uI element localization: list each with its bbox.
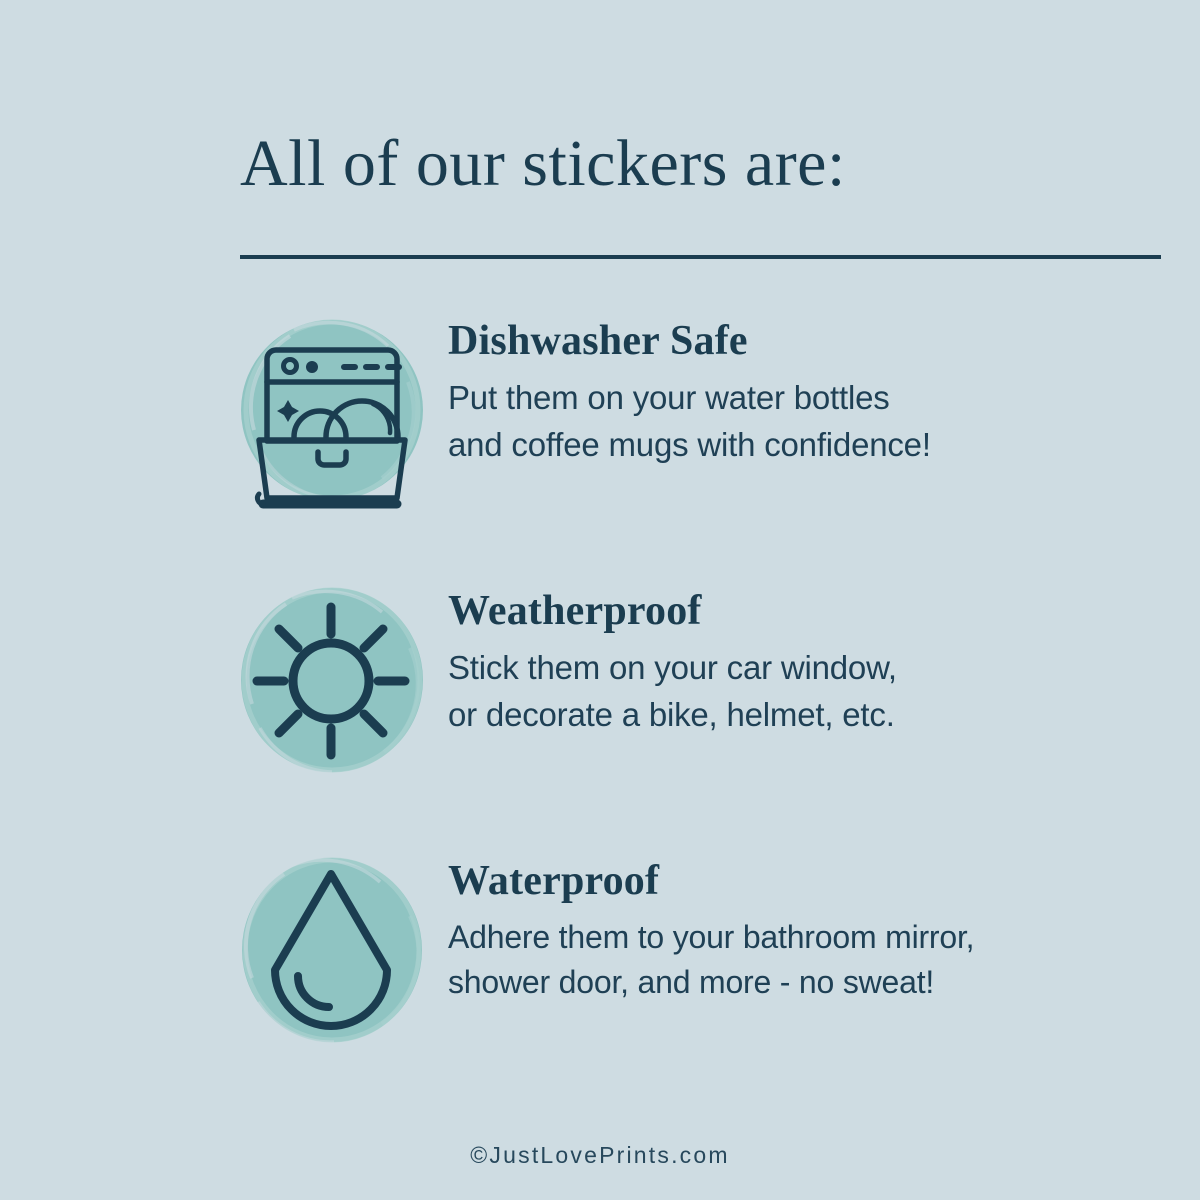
feature-text-dishwasher-safe: Dishwasher Safe Put them on your water b…: [428, 312, 931, 469]
promo-graphic: All of our stickers are:: [0, 0, 1200, 1200]
feature-body: Adhere them to your bathroom mirror, sho…: [448, 915, 974, 1006]
feature-row-waterproof: Waterproof Adhere them to your bathroom …: [232, 852, 1172, 1052]
title-divider: [240, 255, 1161, 259]
feature-heading: Waterproof: [448, 858, 974, 905]
feature-body-line: Adhere them to your bathroom mirror,: [448, 915, 974, 960]
water-drop-icon: [232, 852, 428, 1052]
feature-text-weatherproof: Weatherproof Stick them on your car wind…: [428, 582, 897, 739]
sun-icon: [232, 582, 428, 782]
sun-icon-badge: [232, 582, 428, 782]
feature-heading: Weatherproof: [448, 588, 897, 635]
dishwasher-icon: [232, 312, 428, 512]
feature-text-waterproof: Waterproof Adhere them to your bathroom …: [428, 852, 974, 1006]
feature-row-weatherproof: Weatherproof Stick them on your car wind…: [232, 582, 1172, 782]
feature-heading: Dishwasher Safe: [448, 318, 931, 365]
feature-body-line: and coffee mugs with confidence!: [448, 422, 931, 469]
feature-body-line: or decorate a bike, helmet, etc.: [448, 692, 897, 739]
feature-body: Put them on your water bottles and coffe…: [448, 375, 931, 469]
dishwasher-icon-badge: [232, 312, 428, 512]
feature-body-line: shower door, and more - no sweat!: [448, 960, 974, 1005]
page-title: All of our stickers are:: [240, 128, 980, 199]
footer-credit: ©JustLovePrints.com: [0, 1142, 1200, 1169]
feature-body: Stick them on your car window, or decora…: [448, 645, 897, 739]
feature-body-line: Stick them on your car window,: [448, 645, 897, 692]
feature-body-line: Put them on your water bottles: [448, 375, 931, 422]
feature-row-dishwasher-safe: Dishwasher Safe Put them on your water b…: [232, 312, 1172, 512]
water-drop-icon-badge: [232, 852, 428, 1052]
